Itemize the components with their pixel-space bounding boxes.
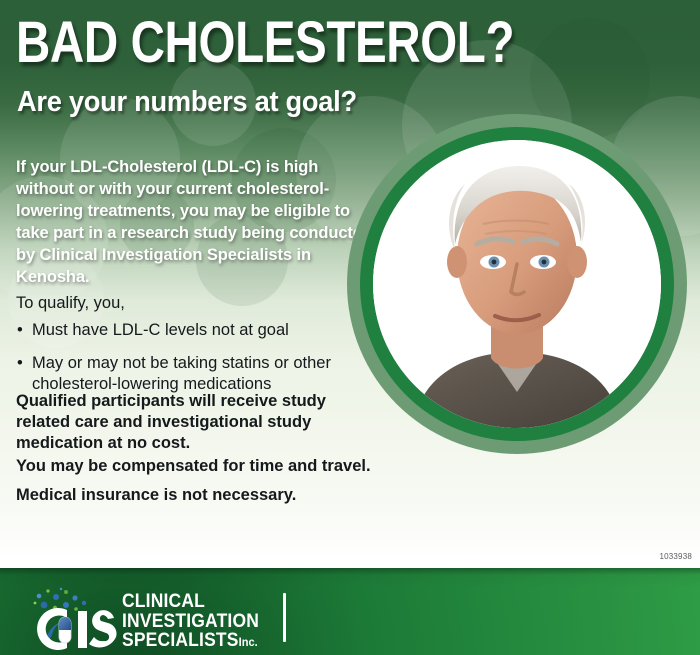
logo-suffix: Inc. — [239, 635, 258, 649]
portrait-photo — [373, 140, 661, 428]
company-name: CLINICAL INVESTIGATION SPECIALISTSInc. — [122, 592, 259, 653]
intro-paragraph: If your LDL-Cholesterol (LDL-C) is high … — [16, 156, 376, 288]
reference-number: 1033938 — [659, 552, 692, 561]
insurance-statement: Medical insurance is not necessary. — [16, 485, 376, 506]
logo-line-2: INVESTIGATION — [122, 611, 259, 632]
benefit-statement: Qualified participants will receive stud… — [16, 391, 376, 454]
page-title: BAD CHOLESTEROL? — [16, 14, 514, 72]
portrait-circle — [347, 114, 687, 454]
cis-logo-icon — [26, 585, 118, 651]
logo-line-3: SPECIALISTS — [122, 630, 239, 651]
subtitle: Are your numbers at goal? — [17, 86, 357, 118]
logo-line-1: CLINICAL — [122, 591, 205, 612]
qualify-lead-text: To qualify, you, — [16, 293, 125, 314]
compensation-statement: You may be compensated for time and trav… — [16, 456, 376, 477]
list-item: May or may not be taking statins or othe… — [16, 353, 376, 395]
list-item: Must have LDL-C levels not at goal — [16, 320, 376, 341]
footer-divider — [283, 593, 286, 642]
advertisement-poster: BAD CHOLESTEROL? Are your numbers at goa… — [0, 0, 700, 655]
poster-body: BAD CHOLESTEROL? Are your numbers at goa… — [0, 0, 700, 568]
